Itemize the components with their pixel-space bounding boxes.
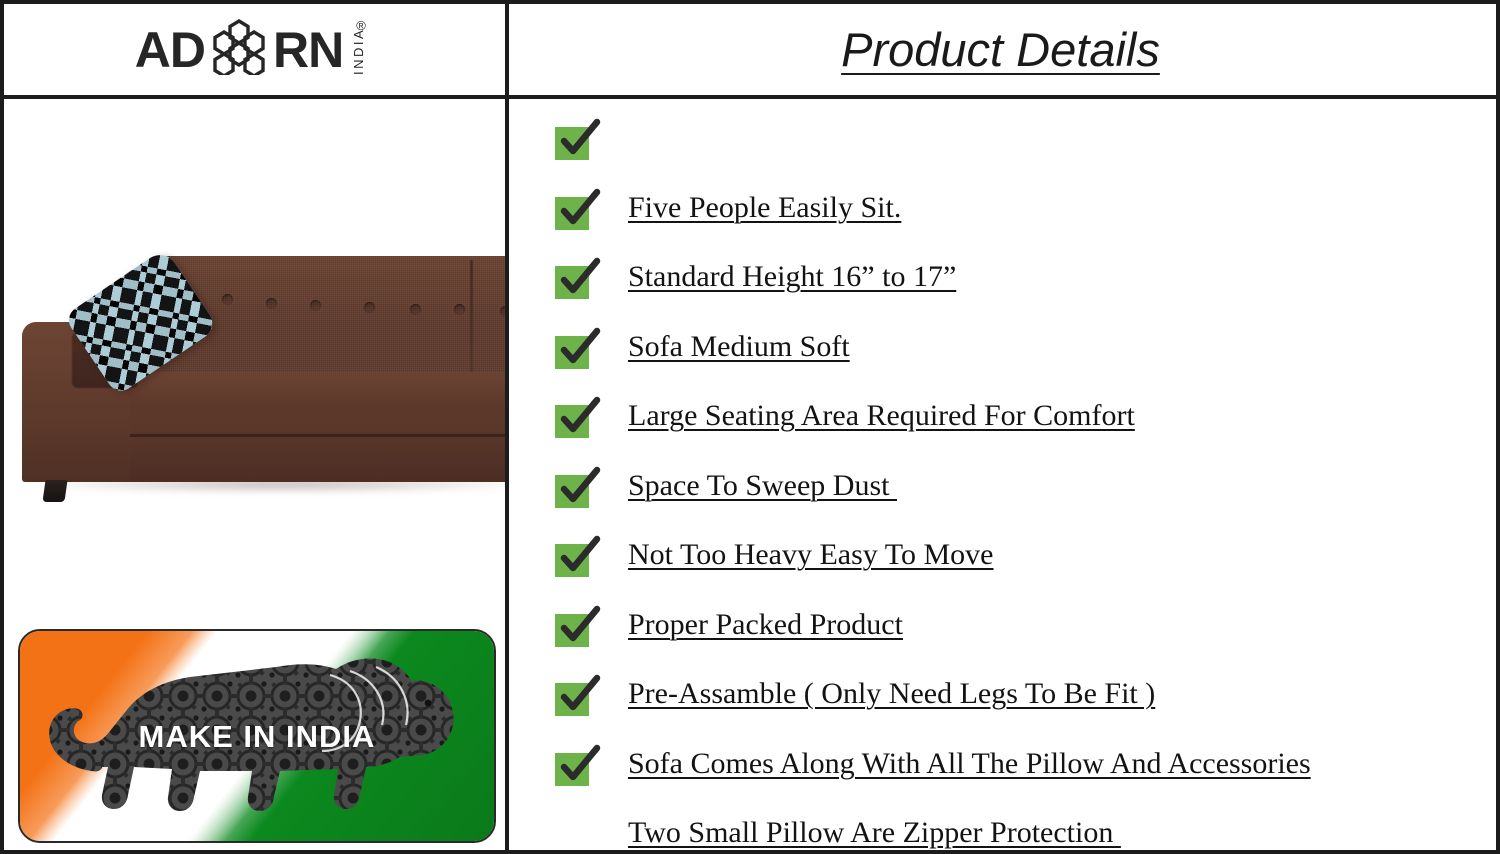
backrest-seam xyxy=(470,260,473,385)
check-mark-icon xyxy=(555,753,591,786)
check-mark-icon xyxy=(555,266,591,299)
right-details-column: Five People Easily Sit. Standard Height … xyxy=(509,99,1496,850)
adorn-india-logo: AD RN ® xyxy=(135,19,374,81)
list-item: Proper Packed Product xyxy=(555,538,1488,608)
product-feature-list: Five People Easily Sit. Standard Height … xyxy=(555,121,1488,835)
list-item: Five People Easily Sit. xyxy=(555,121,1488,191)
make-in-india-label: MAKE IN INDIA xyxy=(20,719,494,755)
sofa-illustration xyxy=(12,254,505,494)
check-mark-icon xyxy=(555,197,591,230)
check-mark-icon xyxy=(555,405,591,438)
list-item: Pre-Assamble ( Only Need Legs To Be Fit … xyxy=(555,608,1488,678)
title-cell: Product Details xyxy=(505,4,1496,95)
honeycomb-hexagon-cluster-icon xyxy=(208,19,270,80)
check-mark-icon xyxy=(555,336,591,369)
tuft-button xyxy=(364,302,375,313)
tuft-button xyxy=(266,298,277,309)
tuft-button xyxy=(454,304,465,315)
check-mark-icon xyxy=(555,683,591,716)
list-item: Sofa Medium Soft xyxy=(555,260,1488,330)
sofa-leg xyxy=(42,480,67,502)
brand-logo-cell: AD RN ® xyxy=(4,4,505,95)
brand-sublabel: INDIA xyxy=(351,27,366,74)
tuft-button xyxy=(410,304,421,315)
brand-sublabel-group: ® INDIA xyxy=(348,21,374,79)
list-item-line: Two Small Pillow Are Zipper Protection xyxy=(628,816,1121,851)
make-in-india-badge: MAKE IN INDIA xyxy=(18,629,496,843)
list-item: Sofa Comes Along With All The Pillow And… xyxy=(555,677,1488,747)
list-item-text: Two Small Pillow Are Zipper Protection Y… xyxy=(628,747,1121,854)
page-title: Product Details xyxy=(841,22,1160,77)
left-media-column: MAKE IN INDIA xyxy=(4,99,505,850)
list-item: Two Small Pillow Are Zipper Protection Y… xyxy=(555,747,1488,835)
check-mark-icon xyxy=(555,127,591,160)
product-details-infographic: AD RN ® xyxy=(0,0,1500,854)
product-photo xyxy=(4,99,505,554)
tuft-button xyxy=(500,306,505,317)
brand-name-prefix: AD xyxy=(135,25,205,75)
brand-name-suffix: RN xyxy=(273,25,343,75)
list-item: Standard Height 16” to 17” xyxy=(555,191,1488,261)
tuft-button xyxy=(222,294,233,305)
header-bar: AD RN ® xyxy=(4,4,1496,95)
check-mark-icon xyxy=(555,475,591,508)
list-item: Large Seating Area Required For Comfort xyxy=(555,330,1488,400)
check-mark-icon xyxy=(555,544,591,577)
check-mark-icon xyxy=(555,614,591,647)
tuft-button xyxy=(310,300,321,311)
